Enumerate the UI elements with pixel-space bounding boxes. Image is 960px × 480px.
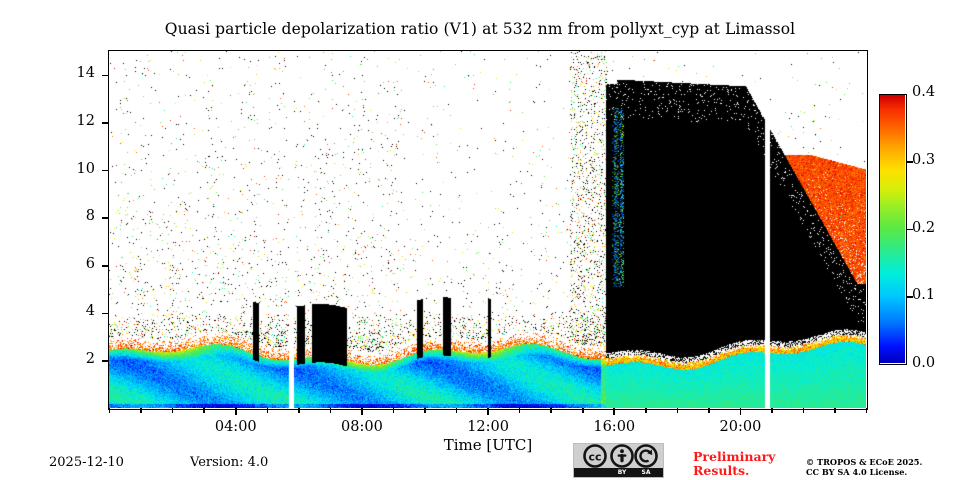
quicklook-figure: Quasi particle depolarization ratio (V1)… [0,0,960,480]
copyright-line-1: © TROPOS & ECoE 2025. [806,457,922,467]
y-tick-mark [102,122,109,124]
y-tick-label: 10 [55,161,95,177]
cc-sa-label: SA [631,468,661,477]
preliminary-line-2: Results. [693,464,775,478]
x-tick-mark-minor [866,408,868,413]
x-tick-label: 04:00 [196,419,276,435]
x-tick-mark-minor [172,408,174,413]
x-tick-label: 16:00 [574,419,654,435]
y-tick-mark [102,360,109,362]
x-tick-mark-minor [550,408,552,413]
x-tick-mark-major [613,408,615,415]
copyright-notice: © TROPOS & ECoE 2025. CC BY SA 4.0 Licen… [806,457,922,477]
x-tick-mark-minor [267,408,269,413]
chart-title: Quasi particle depolarization ratio (V1)… [0,20,960,38]
y-tick-mark [102,75,109,77]
x-tick-mark-minor [456,408,458,413]
colorbar-tick-label: 0.4 [912,84,958,100]
x-tick-mark-minor [330,408,332,413]
x-tick-mark-minor [645,408,647,413]
cc-glyphs: cc [574,444,663,468]
x-tick-mark-major [361,408,363,415]
cc-license-badge[interactable]: cc BY SA [573,443,664,478]
colorbar-tick-label: 0.0 [912,355,958,371]
x-tick-mark-minor [834,408,836,413]
colorbar[interactable] [879,94,907,365]
colorbar-tick-label: 0.3 [912,152,958,168]
x-tick-mark-minor [677,408,679,413]
x-tick-mark-minor [109,408,111,413]
svg-text:cc: cc [588,451,601,464]
x-tick-mark-minor [708,408,710,413]
x-tick-mark-major [235,408,237,415]
y-tick-mark [102,313,109,315]
colorbar-tick-label: 0.2 [912,220,958,236]
x-tick-mark-major [487,408,489,415]
y-tick-mark [102,265,109,267]
preliminary-line-1: Preliminary [693,450,775,464]
x-tick-mark-minor [519,408,521,413]
x-tick-mark-minor [203,408,205,413]
y-tick-label: 2 [55,351,95,367]
colorbar-tick-label: 0.1 [912,287,958,303]
x-tick-mark-minor [424,408,426,413]
y-tick-mark [102,170,109,172]
x-tick-mark-minor [771,408,773,413]
y-tick-label: 14 [55,65,95,81]
cc-icon-row: cc [574,444,663,468]
plot-area[interactable] [108,50,868,410]
x-tick-mark-minor [393,408,395,413]
y-tick-label: 4 [55,303,95,319]
y-tick-label: 8 [55,208,95,224]
preliminary-notice: Preliminary Results. [693,450,775,477]
x-tick-mark-minor [298,408,300,413]
y-tick-label: 6 [55,256,95,272]
figure-version: Version: 4.0 [190,455,268,470]
copyright-line-2: CC BY SA 4.0 License. [806,467,922,477]
x-tick-label: 20:00 [700,419,780,435]
x-tick-mark-minor [803,408,805,413]
y-tick-label: 12 [55,113,95,129]
figure-date: 2025-12-10 [49,455,124,470]
x-tick-mark-minor [582,408,584,413]
x-tick-mark-minor [140,408,142,413]
colorbar-gradient [880,95,905,363]
x-tick-mark-major [740,408,742,415]
x-tick-label: 12:00 [448,419,528,435]
y-tick-mark [102,217,109,219]
depolarization-heatmap[interactable] [109,51,866,408]
x-tick-label: 08:00 [322,419,402,435]
